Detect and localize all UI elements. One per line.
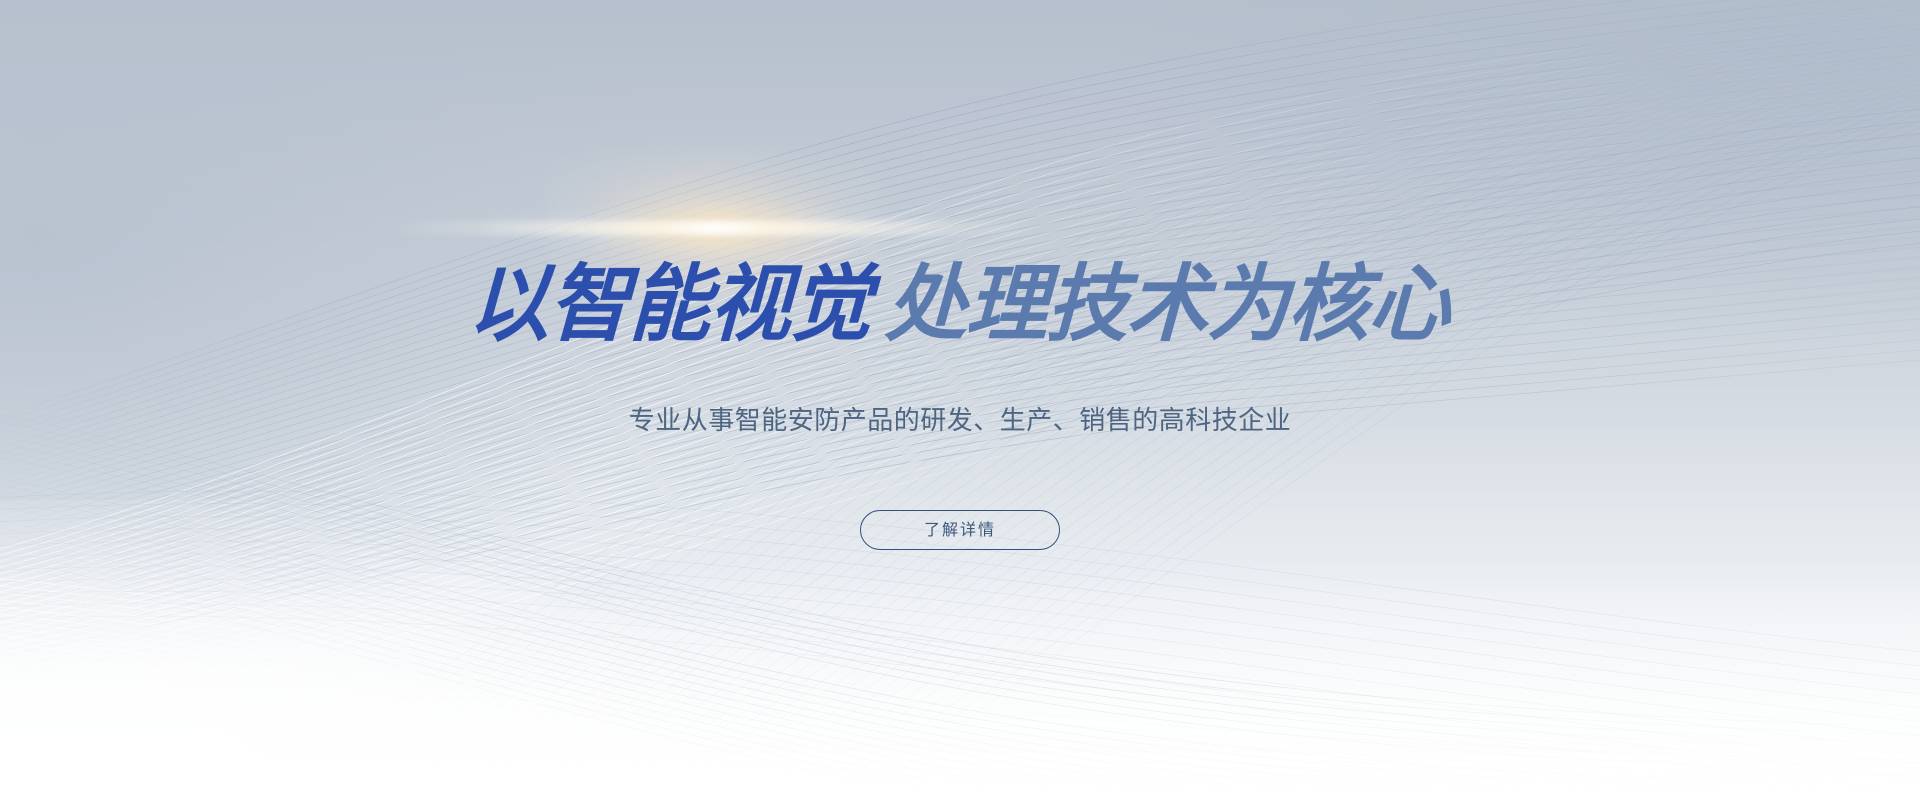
headline-segment-primary: 以智能视觉 bbox=[467, 262, 872, 346]
hero-banner: 以智能视觉处理技术为核心 专业从事智能安防产品的研发、生产、销售的高科技企业 了… bbox=[0, 0, 1920, 800]
wave-line-art bbox=[0, 0, 1920, 800]
headline-segment-secondary: 处理技术为核心 bbox=[884, 262, 1451, 346]
page-title: 以智能视觉处理技术为核心 bbox=[462, 262, 1458, 346]
page-subtitle: 专业从事智能安防产品的研发、生产、销售的高科技企业 bbox=[629, 404, 1292, 438]
lens-flare-streak bbox=[385, 221, 1045, 235]
learn-more-button-label: 了解详情 bbox=[924, 522, 996, 538]
wave-ribbon-crest bbox=[0, 10, 1920, 734]
learn-more-button[interactable]: 了解详情 bbox=[860, 510, 1060, 550]
